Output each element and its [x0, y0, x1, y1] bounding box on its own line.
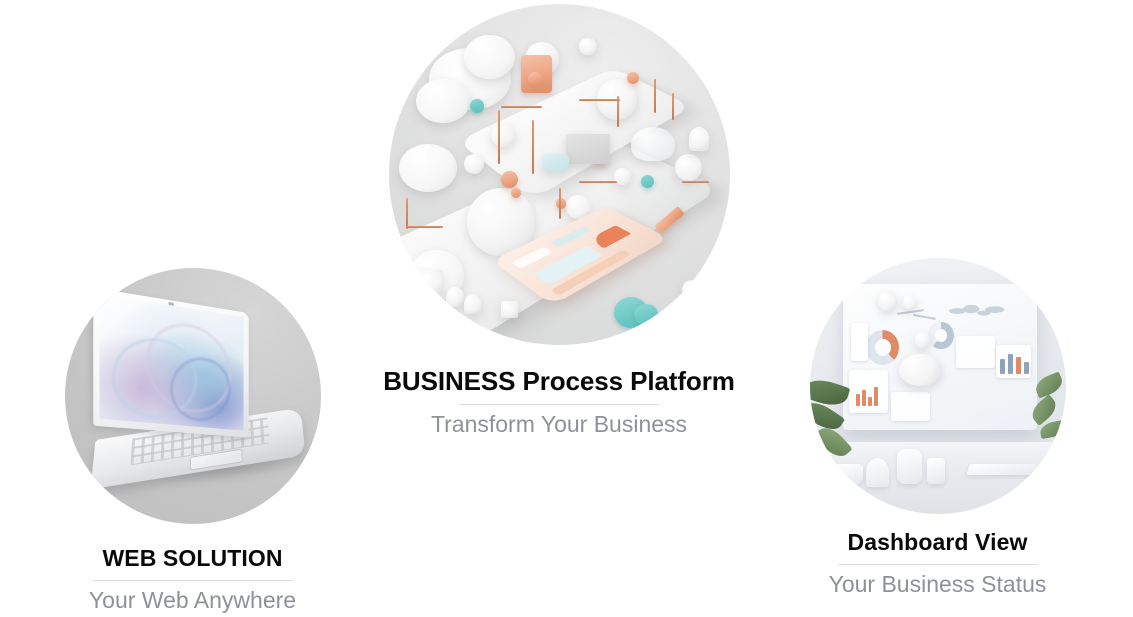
bar	[1024, 362, 1029, 374]
app-card-row	[551, 226, 593, 248]
cone-shape	[689, 127, 709, 151]
web-solution-caption: WEB SOLUTION Your Web Anywhere	[40, 546, 345, 613]
desk-cup	[835, 464, 863, 486]
web-solution-image[interactable]	[65, 268, 321, 524]
sphere-small	[682, 280, 702, 300]
feature-card-dashboard-view[interactable]: Dashboard View Your Business Status	[785, 258, 1090, 597]
copper-rod	[672, 93, 674, 120]
copper-rod	[559, 188, 561, 219]
bar	[1000, 359, 1005, 374]
sphere-decoration	[903, 295, 917, 310]
metric-tile	[956, 336, 995, 368]
teal-accent	[634, 304, 658, 324]
cloud-blob	[464, 35, 515, 79]
glass-dome	[631, 127, 675, 161]
donut-chart	[866, 330, 899, 365]
line-chart	[913, 314, 936, 320]
caption-divider	[459, 404, 659, 405]
desk-object	[866, 458, 889, 487]
cube-shape	[501, 301, 518, 318]
bar	[874, 387, 878, 406]
kpi-tile	[851, 323, 869, 361]
feature-card-web-solution[interactable]: WEB SOLUTION Your Web Anywhere	[40, 268, 345, 613]
sphere-decoration	[915, 332, 931, 348]
sphere-decoration	[878, 291, 897, 311]
copper-pipe	[501, 106, 542, 108]
laptop-lid	[93, 288, 248, 438]
dashboard-view-image[interactable]	[810, 258, 1066, 514]
caption-divider	[838, 564, 1038, 565]
copper-pipe	[406, 198, 408, 229]
business-process-subtitle: Transform Your Business	[380, 411, 738, 437]
laptop-illustration	[65, 268, 321, 524]
web-solution-title: WEB SOLUTION	[40, 546, 345, 572]
business-process-caption: BUSINESS Process Platform Transform Your…	[380, 367, 738, 438]
web-solution-subtitle: Your Web Anywhere	[40, 587, 345, 613]
laptop-screen	[99, 294, 243, 430]
copper-rod	[498, 110, 500, 165]
business-process-image[interactable]	[389, 4, 730, 345]
desk-object	[927, 458, 945, 484]
copper-pipe	[406, 226, 444, 228]
report-tile	[849, 370, 888, 414]
caption-divider	[93, 580, 293, 581]
note-tile	[891, 392, 930, 421]
sphere-decoration	[899, 354, 942, 386]
bar	[868, 397, 872, 406]
dashboard-view-title: Dashboard View	[785, 530, 1090, 556]
sphere-small	[675, 154, 702, 181]
panel-shape	[542, 154, 569, 171]
dashboard-wall-illustration	[810, 258, 1066, 514]
sphere-small	[579, 38, 596, 55]
teal-accent	[470, 99, 484, 113]
app-card-accent	[588, 226, 631, 249]
dashboard-wall-panel	[843, 284, 1038, 430]
copper-pipe	[682, 181, 709, 183]
orange-knob	[528, 72, 542, 86]
sphere-small	[464, 154, 484, 174]
world-map	[944, 298, 1006, 327]
isometric-platform-illustration	[389, 4, 730, 345]
desk-object	[897, 449, 923, 483]
bar	[1016, 357, 1021, 375]
feature-card-business-process-platform[interactable]: BUSINESS Process Platform Transform Your…	[380, 4, 738, 438]
desk-surface	[810, 442, 1066, 514]
business-process-title: BUSINESS Process Platform	[380, 367, 738, 396]
copper-pipe	[579, 181, 617, 183]
dashboard-view-subtitle: Your Business Status	[785, 571, 1090, 597]
copper-rod	[532, 120, 534, 175]
panel-shape	[566, 134, 610, 165]
cube-shape	[419, 270, 443, 294]
bar	[856, 394, 860, 406]
cone-shape	[464, 294, 481, 314]
desk-keyboard	[966, 464, 1036, 475]
bar	[1008, 354, 1013, 374]
sphere-small	[491, 123, 515, 147]
dashboard-view-caption: Dashboard View Your Business Status	[785, 530, 1090, 597]
cloud-blob	[399, 144, 457, 192]
cone-shape	[446, 287, 463, 307]
cloud-blob	[416, 79, 471, 123]
bar	[862, 390, 866, 406]
